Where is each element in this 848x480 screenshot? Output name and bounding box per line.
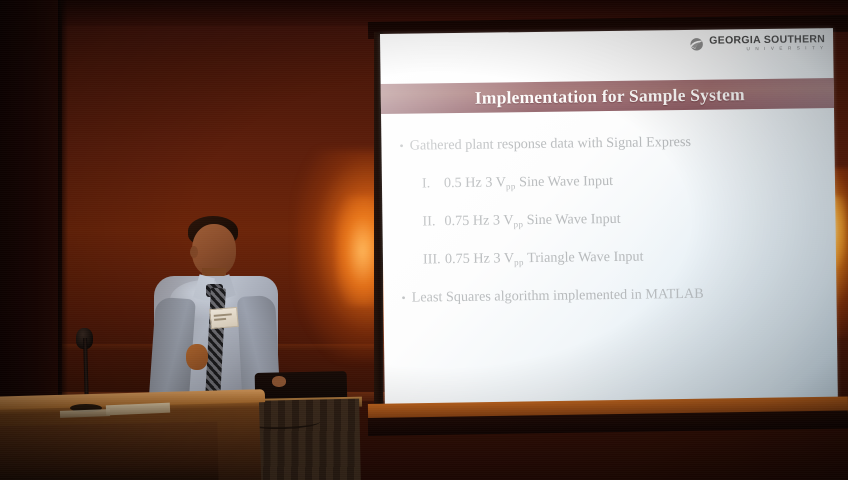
bullet-text: Least Squares algorithm implemented in M… bbox=[412, 286, 704, 307]
bullet-text: Gathered plant response data with Signal… bbox=[410, 134, 692, 155]
podium-front-panel bbox=[0, 422, 219, 480]
georgia-southern-eagle-icon bbox=[688, 37, 705, 50]
badge-text-line bbox=[214, 313, 232, 316]
sub-item-post: Sine Wave Input bbox=[527, 211, 621, 228]
sub-item-1: I. 0.5 Hz 3 Vpp Sine Wave Input bbox=[422, 170, 825, 192]
university-subtitle: U N I V E R S I T Y bbox=[709, 46, 825, 52]
sub-item-pre: 0.75 Hz 3 V bbox=[445, 250, 514, 267]
presenter-ear bbox=[190, 246, 198, 258]
slide-title-band: Implementation for Sample System bbox=[380, 78, 838, 114]
bullet-item-2: • Least Squares algorithm implemented in… bbox=[401, 284, 826, 307]
sub-item-subscript: pp bbox=[506, 181, 516, 191]
seated-person-hand bbox=[272, 376, 286, 387]
slide-body: • Gathered plant response data with Sign… bbox=[399, 132, 826, 328]
sub-item-subscript: pp bbox=[514, 219, 524, 229]
sub-item-2: II. 0.75 Hz 3 Vpp Sine Wave Input bbox=[422, 208, 825, 230]
sub-item-subscript: pp bbox=[514, 257, 524, 267]
sub-item-3: III. 0.75 Hz 3 Vpp Triangle Wave Input bbox=[423, 246, 826, 268]
presenter-hand bbox=[186, 344, 208, 370]
sub-item-post: Triangle Wave Input bbox=[527, 249, 643, 267]
sub-item-text: 0.75 Hz 3 Vpp Sine Wave Input bbox=[444, 211, 620, 230]
sub-item-number: III. bbox=[423, 251, 445, 268]
bullet-marker: • bbox=[399, 139, 403, 154]
projected-slide: GEORGIA SOUTHERN U N I V E R S I T Y Imp… bbox=[380, 28, 838, 409]
university-logo-text: GEORGIA SOUTHERN U N I V E R S I T Y bbox=[709, 34, 825, 52]
presentation-photo-scene: GEORGIA SOUTHERN U N I V E R S I T Y Imp… bbox=[0, 0, 848, 480]
bullet-item-1: • Gathered plant response data with Sign… bbox=[399, 132, 824, 155]
university-name: GEORGIA SOUTHERN bbox=[709, 34, 825, 46]
presenter-name-badge bbox=[209, 307, 239, 329]
sub-item-pre: 0.75 Hz 3 V bbox=[444, 212, 513, 229]
sub-item-text: 0.75 Hz 3 Vpp Triangle Wave Input bbox=[445, 249, 644, 269]
sub-item-number: I. bbox=[422, 175, 444, 192]
slide-title: Implementation for Sample System bbox=[475, 84, 745, 109]
badge-text-line bbox=[214, 318, 226, 321]
projection-screen: GEORGIA SOUTHERN U N I V E R S I T Y Imp… bbox=[368, 22, 848, 422]
university-logo: GEORGIA SOUTHERN U N I V E R S I T Y bbox=[688, 34, 825, 52]
bullet-marker: • bbox=[401, 291, 405, 306]
sub-item-number: II. bbox=[422, 213, 444, 230]
sub-item-text: 0.5 Hz 3 Vpp Sine Wave Input bbox=[444, 173, 613, 192]
sub-item-post: Sine Wave Input bbox=[519, 173, 613, 190]
sub-item-pre: 0.5 Hz 3 V bbox=[444, 174, 506, 191]
